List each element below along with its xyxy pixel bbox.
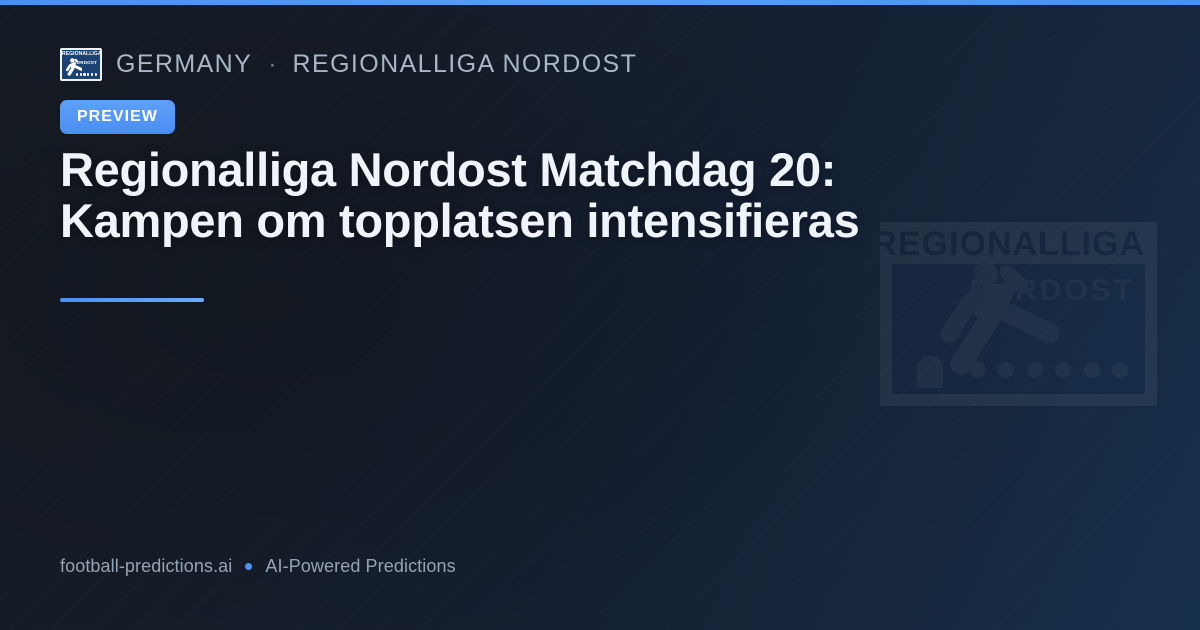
crest-top-text: REGIONALLIGA [62,51,100,57]
title-underline-accent [60,298,204,302]
footer: football-predictions.ai AI-Powered Predi… [60,556,456,577]
crest-dot-icon [80,73,82,75]
bullet-dot-icon [245,563,252,570]
status-badge: PREVIEW [60,100,175,134]
content-column: REGIONALLIGA NORDOST [60,0,1060,630]
breadcrumb-separator: · [266,50,278,79]
footer-site-name: football-predictions.ai [60,556,232,577]
league-crest-icon: REGIONALLIGA NORDOST [60,48,102,81]
footer-tagline: AI-Powered Predictions [265,556,455,577]
breadcrumb: REGIONALLIGA NORDOST [60,45,637,83]
watermark-dot-icon [1112,362,1128,378]
crest-dot-icon [83,73,85,75]
crest-dot-icon [87,73,89,75]
crest-dot-icon [91,73,93,75]
breadcrumb-country: GERMANY [116,50,252,79]
page-title: Regionalliga Nordost Matchdag 20: Kampen… [60,144,1020,246]
crest-dot-row [76,73,97,75]
crest-dot-icon [95,73,97,75]
crest-dot-icon [76,73,78,75]
breadcrumb-league: REGIONALLIGA NORDOST [293,50,638,79]
og-card: REGIONALLIGA NRDOST [0,0,1200,630]
